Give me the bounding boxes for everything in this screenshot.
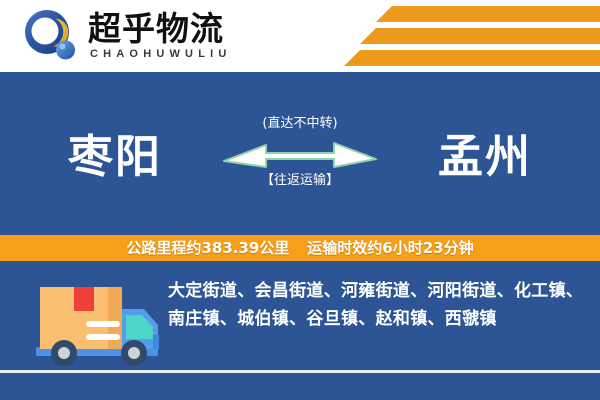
info-bar: 公路里程约383.39公里 运输时效约6小时23分钟 bbox=[0, 233, 600, 263]
route-panel: 枣阳 (直达不中转) 【往返运输】 孟州 bbox=[0, 72, 600, 232]
coverage-line: 南庄镇、城伯镇、谷旦镇、赵和镇、西虢镇 bbox=[168, 305, 588, 333]
delivery-truck-icon bbox=[22, 277, 172, 377]
distance-text: 公路里程约383.39公里 bbox=[126, 239, 289, 257]
coverage-line: 大定街道、会昌街道、河雍街道、河阳街道、化工镇、 bbox=[168, 277, 588, 305]
brand-logo: 超乎物流 CHAOHUWULIU bbox=[22, 8, 232, 64]
route-note-bottom: 【往返运输】 bbox=[261, 173, 339, 189]
brand-name-cn: 超乎物流 bbox=[88, 11, 232, 47]
brand-text: 超乎物流 CHAOHUWULIU bbox=[88, 11, 232, 61]
destination-city: 孟州 bbox=[385, 120, 585, 185]
bottom-divider bbox=[0, 370, 600, 373]
coverage-section: 大定街道、会昌街道、河雍街道、河阳街道、化工镇、 南庄镇、城伯镇、谷旦镇、赵和镇… bbox=[0, 265, 600, 400]
bidirectional-arrow-icon bbox=[222, 135, 378, 169]
origin-city: 枣阳 bbox=[15, 120, 215, 185]
route-middle: (直达不中转) 【往返运输】 bbox=[215, 97, 385, 207]
route-note-top: (直达不中转) bbox=[262, 116, 337, 132]
circle-crescent-logo-icon bbox=[22, 8, 78, 64]
logistics-banner: 超乎物流 CHAOHUWULIU 枣阳 (直达不中转) 【 bbox=[0, 0, 600, 400]
brand-name-en: CHAOHUWULIU bbox=[88, 47, 232, 61]
banner-header: 超乎物流 CHAOHUWULIU bbox=[0, 0, 600, 72]
route-row: 枣阳 (直达不中转) 【往返运输】 孟州 bbox=[0, 72, 600, 232]
coverage-area-list: 大定街道、会昌街道、河雍街道、河阳街道、化工镇、 南庄镇、城伯镇、谷旦镇、赵和镇… bbox=[168, 277, 588, 333]
speed-stripes-icon bbox=[330, 6, 600, 68]
duration-text: 运输时效约6小时23分钟 bbox=[307, 239, 473, 257]
